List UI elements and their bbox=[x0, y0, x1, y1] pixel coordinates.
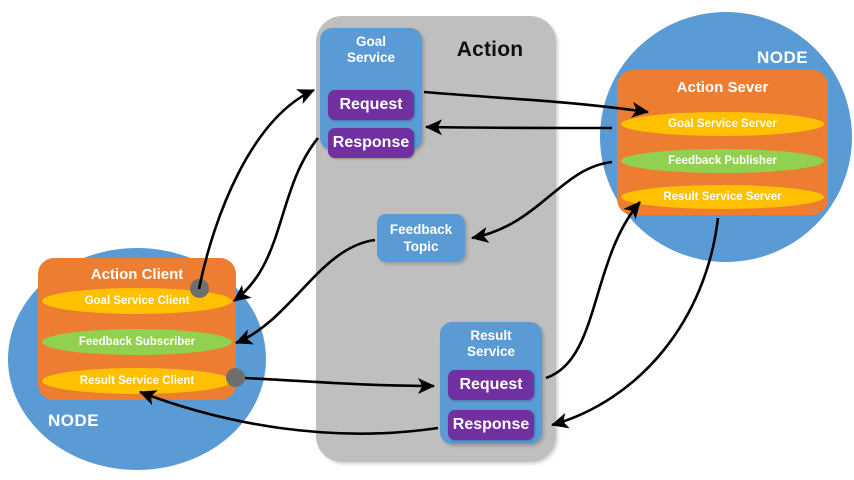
goal-service-title-line1: Goal bbox=[356, 34, 386, 49]
result-service-box: Result Service Request Response bbox=[440, 322, 542, 444]
result-service-title-line2: Service bbox=[467, 344, 515, 359]
goal-service-box: Goal Service Request Response bbox=[320, 28, 422, 150]
goal-service-title: Goal Service bbox=[320, 34, 422, 66]
goal-service-title-line2: Service bbox=[347, 50, 395, 65]
client-node-label: NODE bbox=[48, 411, 99, 431]
result-service-client-pill[interactable]: Result Service Client bbox=[42, 368, 232, 394]
result-service-title-line1: Result bbox=[470, 328, 511, 343]
goal-service-response-chip[interactable]: Response bbox=[328, 128, 414, 158]
goal-service-request-chip[interactable]: Request bbox=[328, 90, 414, 120]
arrow-result-request-to-server bbox=[546, 202, 640, 378]
feedback-publisher-pill[interactable]: Feedback Publisher bbox=[621, 149, 824, 173]
feedback-subscriber-pill[interactable]: Feedback Subscriber bbox=[42, 329, 232, 355]
feedback-topic-line1: Feedback bbox=[390, 222, 452, 237]
feedback-topic-box[interactable]: Feedback Topic bbox=[377, 214, 465, 262]
result-client-connector-dot bbox=[226, 368, 245, 387]
feedback-topic-line2: Topic bbox=[404, 239, 439, 254]
result-service-response-chip[interactable]: Response bbox=[448, 410, 534, 440]
action-server-title: Action Sever bbox=[617, 79, 828, 96]
result-service-server-pill[interactable]: Result Service Server bbox=[621, 185, 824, 209]
result-service-title: Result Service bbox=[440, 328, 542, 360]
server-node-label: NODE bbox=[757, 48, 808, 68]
action-client-panel: Action Client Goal Service Client Feedba… bbox=[38, 258, 236, 400]
feedback-topic-label: Feedback Topic bbox=[390, 221, 452, 255]
result-service-request-chip[interactable]: Request bbox=[448, 370, 534, 400]
goal-service-server-pill[interactable]: Goal Service Server bbox=[621, 112, 824, 136]
arrow-goal-response-to-client bbox=[234, 138, 318, 301]
action-server-panel: Action Sever Goal Service Server Feedbac… bbox=[617, 70, 828, 215]
goal-client-connector-dot bbox=[190, 279, 209, 298]
action-client-title: Action Client bbox=[38, 266, 236, 283]
diagram-canvas: Action Goal Service Request Response Fee… bbox=[0, 0, 854, 480]
action-title: Action bbox=[430, 38, 550, 62]
